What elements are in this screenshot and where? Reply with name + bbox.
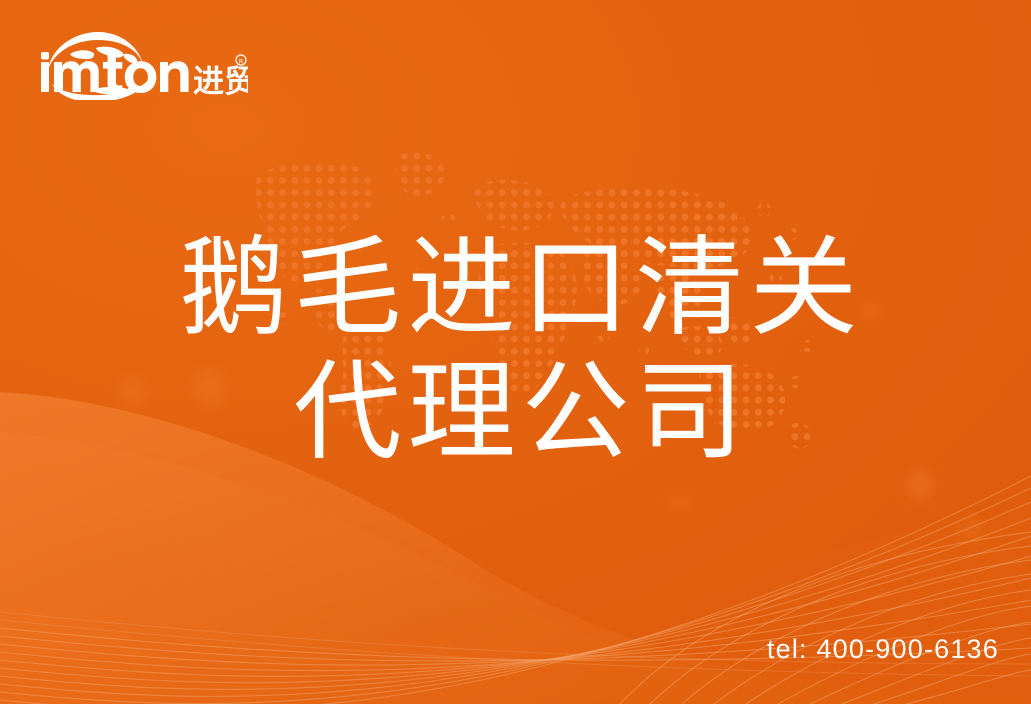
wordmark-latin (41, 52, 189, 93)
background-gradient (0, 0, 1031, 704)
wordmark-chinese: 进贸通 (193, 64, 248, 100)
svg-text:进贸通: 进贸通 (193, 64, 248, 100)
registered-mark-glyph: R (239, 58, 244, 66)
brand-logo[interactable]: 进贸通 R (36, 26, 248, 100)
contact-phone[interactable]: tel: 400-900-6136 (767, 633, 999, 665)
poster-canvas: 进贸通 R 鹅毛进口清关 代理公司 tel: 400-900-6136 (0, 0, 1031, 704)
